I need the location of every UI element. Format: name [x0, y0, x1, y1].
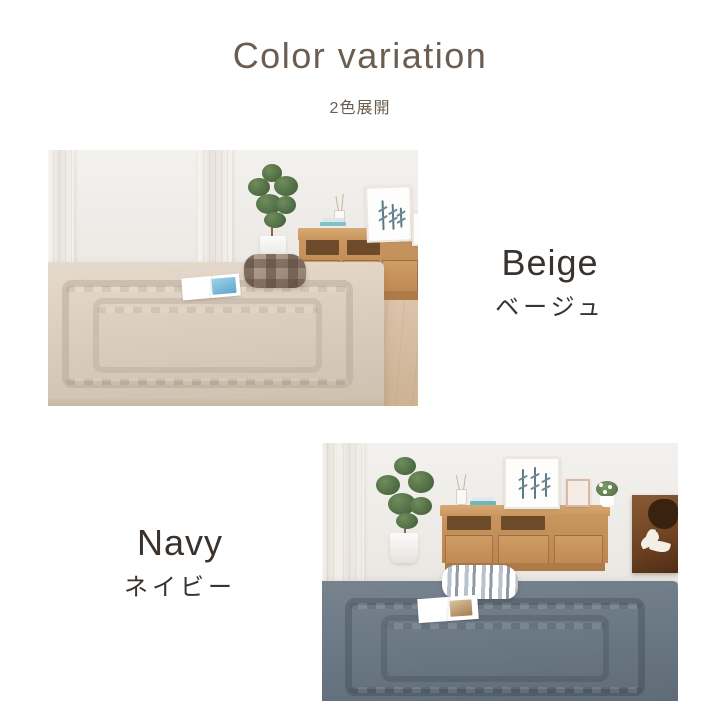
reed-diffuser [456, 489, 467, 505]
color-name-en-navy: Navy [60, 523, 300, 563]
decorative-wood-panel [632, 495, 678, 573]
color-name-en-beige: Beige [430, 243, 670, 283]
plaid-cushion [244, 254, 306, 288]
framed-fern-art [504, 457, 560, 509]
book-stack [470, 501, 496, 505]
color-variation-page: Color variation 2色展開 [0, 0, 720, 720]
color-label-navy: Navy ネイビー [60, 523, 300, 601]
olive-plant-foliage [374, 457, 436, 537]
book-stack [320, 222, 346, 226]
product-photo-navy[interactable] [322, 443, 678, 701]
futon-mattress-navy [322, 581, 678, 701]
tv-stand [440, 505, 610, 571]
color-name-jp-beige: ベージュ [430, 295, 670, 321]
plant-pot [390, 533, 418, 563]
page-header: Color variation 2色展開 [0, 0, 720, 118]
flower-pot [600, 496, 614, 507]
framed-botanical-art [365, 185, 413, 243]
page-title: Color variation [0, 38, 720, 74]
open-magazine [417, 595, 479, 623]
book-stack-top [472, 497, 494, 501]
striped-pillow [442, 565, 518, 599]
book-stack-top [322, 218, 344, 222]
photo-frame [566, 479, 590, 507]
framed-art-secondary [412, 212, 418, 246]
color-label-beige: Beige ベージュ [430, 243, 670, 321]
olive-plant-foliage [244, 162, 302, 240]
product-photo-beige[interactable] [48, 150, 418, 406]
color-name-jp-navy: ネイビー [60, 575, 300, 601]
page-subtitle: 2色展開 [0, 94, 720, 118]
